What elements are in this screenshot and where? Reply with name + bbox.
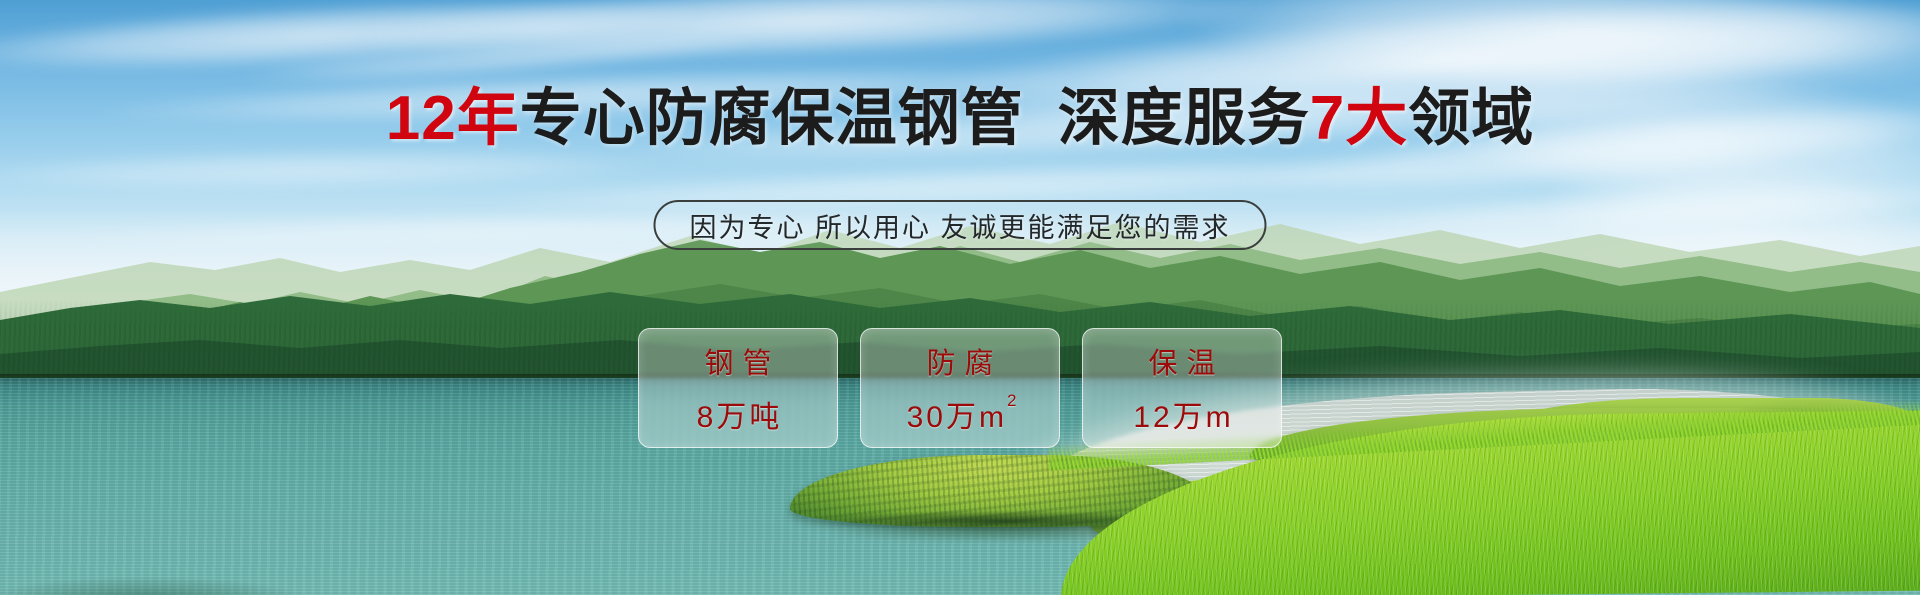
promo-banner: 12年专心防腐保温钢管深度服务7大领域 因为专心 所以用心 友诚更能满足您的需求… — [0, 0, 1920, 595]
stat-value-text: 30万m — [907, 401, 1007, 434]
headline-service: 深度服务 — [1058, 84, 1310, 153]
stat-card-steel-pipe[interactable]: 钢管 8万吨 — [638, 328, 838, 448]
stat-card-value: 30万m2 — [904, 392, 1017, 436]
stat-value-text: 8万吨 — [697, 401, 783, 434]
subtitle-pill: 因为专心 所以用心 友诚更能满足您的需求 — [653, 200, 1266, 250]
stat-card-group: 钢管 8万吨 防腐 30万m2 保温 12万m — [638, 328, 1282, 448]
bottom-left-shade — [0, 577, 310, 595]
subtitle-text: 因为专心 所以用心 友诚更能满足您的需求 — [689, 206, 1230, 245]
stat-card-value: 8万吨 — [694, 392, 783, 436]
headline-years: 12年 — [386, 84, 520, 153]
stat-card-insulation[interactable]: 保温 12万m — [1082, 328, 1282, 448]
stat-card-label: 防腐 — [917, 340, 1002, 382]
headline-seven: 7大 — [1310, 84, 1408, 153]
headline: 12年专心防腐保温钢管深度服务7大领域 — [0, 86, 1920, 152]
stat-card-label: 钢管 — [695, 340, 780, 382]
stat-value-superscript: 2 — [1007, 391, 1016, 410]
cloud-streak — [0, 0, 701, 84]
cloud-streak — [359, 0, 1261, 72]
stat-value-text: 12万m — [1133, 401, 1233, 434]
stat-card-label: 保温 — [1139, 340, 1224, 382]
stat-card-anticorrosion[interactable]: 防腐 30万m2 — [860, 328, 1060, 448]
headline-主文案: 专心防腐保温钢管 — [520, 84, 1024, 153]
stat-card-value: 12万m — [1130, 392, 1233, 436]
cloud-streak — [240, 26, 761, 92]
headline-fields: 领域 — [1408, 84, 1534, 153]
